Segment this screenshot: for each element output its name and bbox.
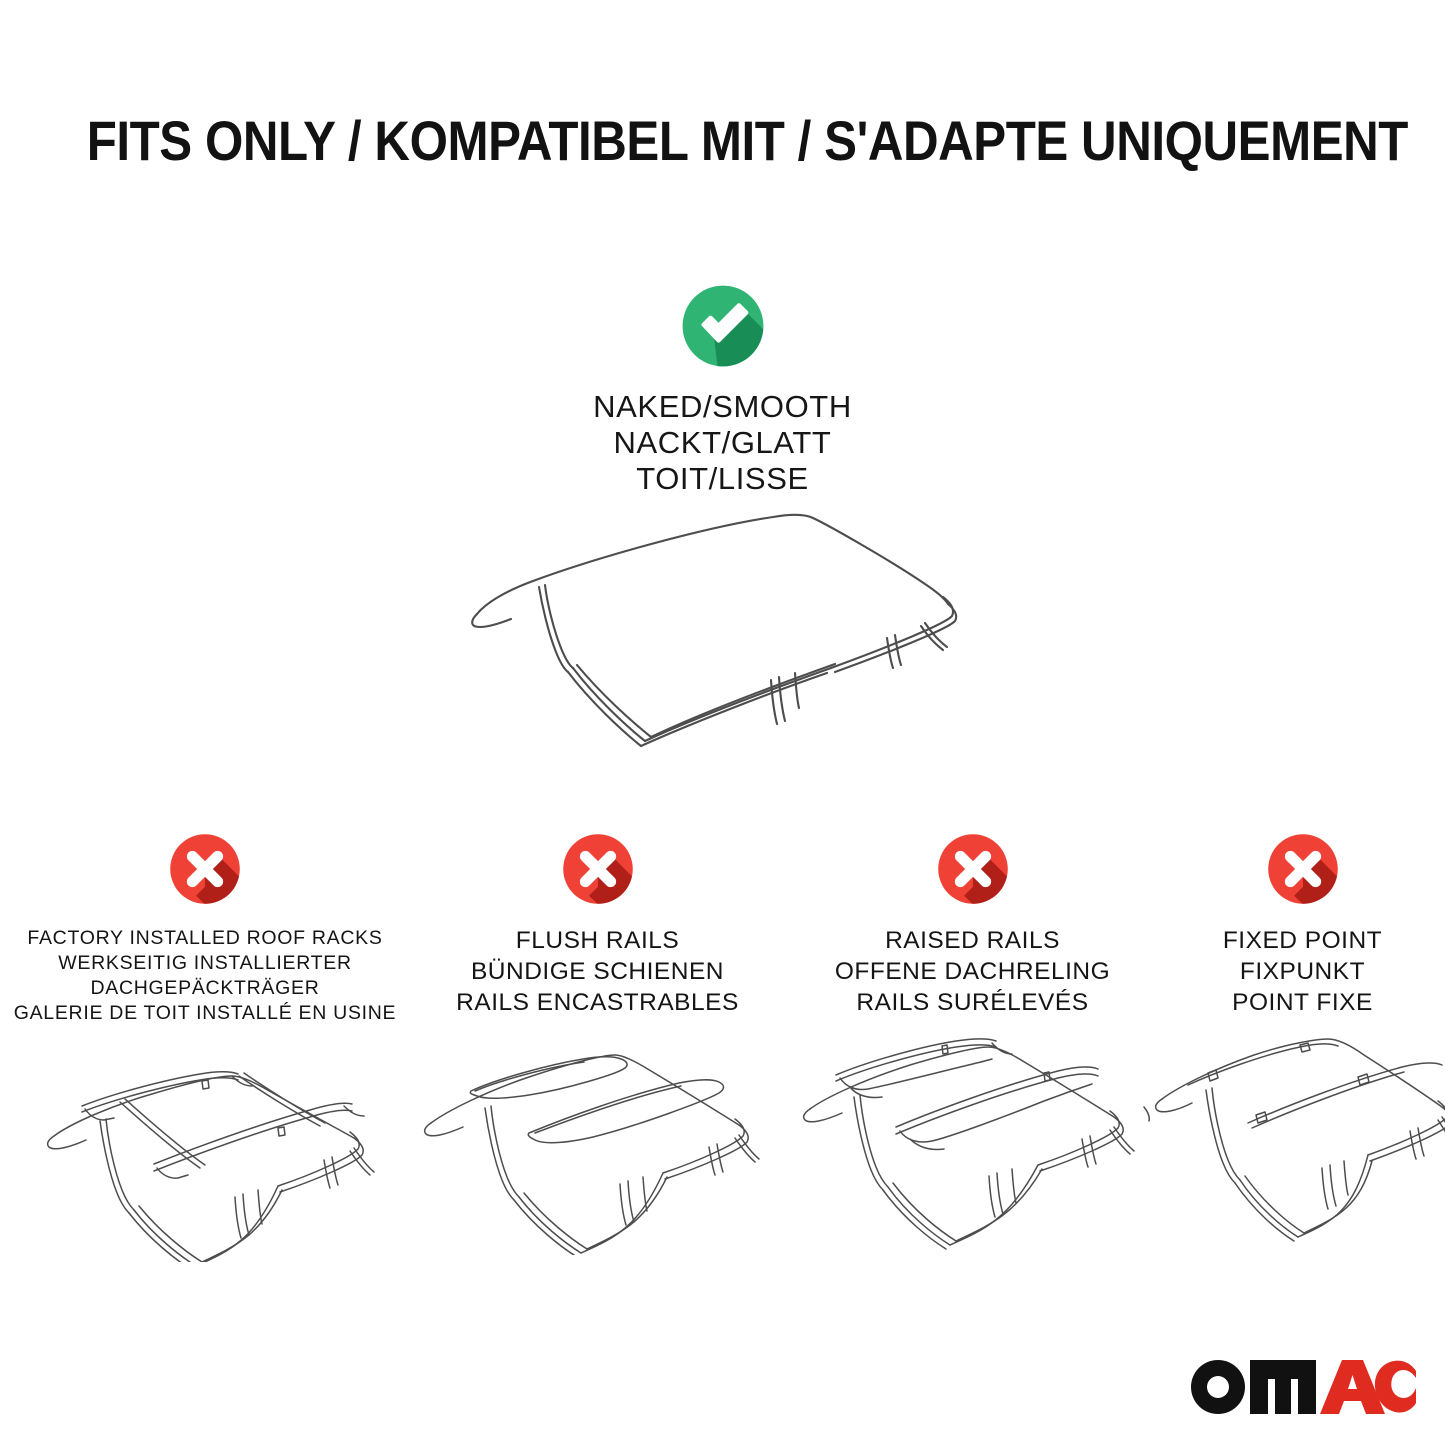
incompatible-item-flush-rails: FLUSH RAILS BÜNDIGE SCHIENEN RAILS ENCAS… (410, 820, 785, 1290)
check-circle-icon (680, 283, 766, 369)
caption-line: FACTORY INSTALLED ROOF RACKS (14, 926, 397, 951)
fixed-point-roof-line-art (1148, 1033, 1445, 1255)
caption-line: NACKT/GLATT (593, 425, 852, 461)
naked-smooth-roof-line-art (455, 492, 995, 762)
cross-circle-icon (561, 832, 635, 906)
cross-circle-icon (936, 832, 1010, 906)
factory-roof-rack-line-art (24, 1040, 386, 1262)
caption-line: FIXED POINT (1223, 926, 1382, 957)
incompatible-section: FACTORY INSTALLED ROOF RACKS WERKSEITIG … (0, 820, 1445, 1290)
omac-logo (1187, 1351, 1417, 1417)
incompatible-caption: FLUSH RAILS BÜNDIGE SCHIENEN RAILS ENCAS… (456, 926, 739, 1019)
incompatible-caption: FIXED POINT FIXPUNKT POINT FIXE (1223, 926, 1382, 1019)
cross-circle-icon (168, 832, 242, 906)
caption-line: DACHGEPÄCKTRÄGER (14, 976, 397, 1001)
compatibility-infographic: FITS ONLY / KOMPATIBEL MIT / S'ADAPTE UN… (0, 0, 1445, 1445)
flush-rails-line-art (417, 1033, 779, 1255)
caption-line: RAISED RAILS (835, 926, 1110, 957)
incompatible-item-raised-rails: RAISED RAILS OFFENE DACHRELING RAILS SUR… (785, 820, 1160, 1290)
caption-line: FLUSH RAILS (456, 926, 739, 957)
incompatible-caption: RAISED RAILS OFFENE DACHRELING RAILS SUR… (835, 926, 1110, 1019)
caption-line: BÜNDIGE SCHIENEN (456, 957, 739, 988)
cross-circle-icon (1266, 832, 1340, 906)
caption-line: POINT FIXE (1223, 988, 1382, 1019)
caption-line: NAKED/SMOOTH (593, 389, 852, 425)
incompatible-item-fixed-point: FIXED POINT FIXPUNKT POINT FIXE (1160, 820, 1445, 1290)
compatible-caption: NAKED/SMOOTH NACKT/GLATT TOIT/LISSE (593, 389, 852, 497)
caption-line: GALERIE DE TOIT INSTALLÉ EN USINE (14, 1001, 397, 1026)
caption-line: RAILS SURÉLEVÉS (835, 988, 1110, 1019)
caption-line: OFFENE DACHRELING (835, 957, 1110, 988)
raised-rails-line-art (792, 1033, 1154, 1255)
incompatible-caption: FACTORY INSTALLED ROOF RACKS WERKSEITIG … (14, 926, 397, 1026)
caption-line: WERKSEITIG INSTALLIERTER (14, 951, 397, 976)
caption-line: FIXPUNKT (1223, 957, 1382, 988)
page-title: FITS ONLY / KOMPATIBEL MIT / S'ADAPTE UN… (87, 108, 1359, 173)
incompatible-item-factory-installed-roof-racks: FACTORY INSTALLED ROOF RACKS WERKSEITIG … (0, 820, 410, 1290)
compatible-section: NAKED/SMOOTH NACKT/GLATT TOIT/LISSE (0, 283, 1445, 497)
caption-line: RAILS ENCASTRABLES (456, 988, 739, 1019)
